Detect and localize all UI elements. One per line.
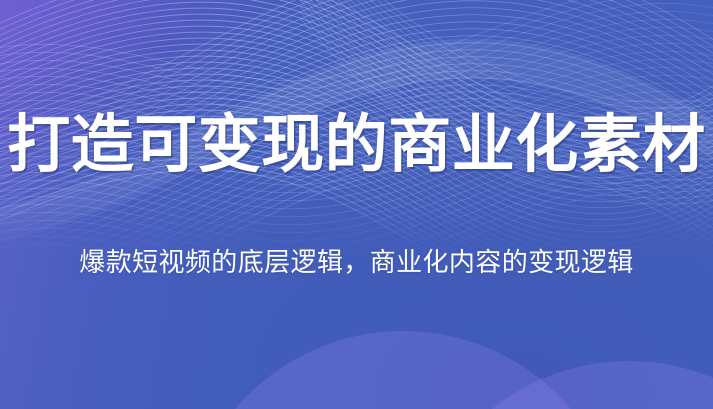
banner-content: 打造可变现的商业化素材 爆款短视频的底层逻辑，商业化内容的变现逻辑 — [0, 0, 713, 409]
banner-title: 打造可变现的商业化素材 — [0, 112, 713, 179]
banner-subtitle: 爆款短视频的底层逻辑，商业化内容的变现逻辑 — [0, 245, 713, 280]
course-banner: 打造可变现的商业化素材 爆款短视频的底层逻辑，商业化内容的变现逻辑 — [0, 0, 713, 409]
